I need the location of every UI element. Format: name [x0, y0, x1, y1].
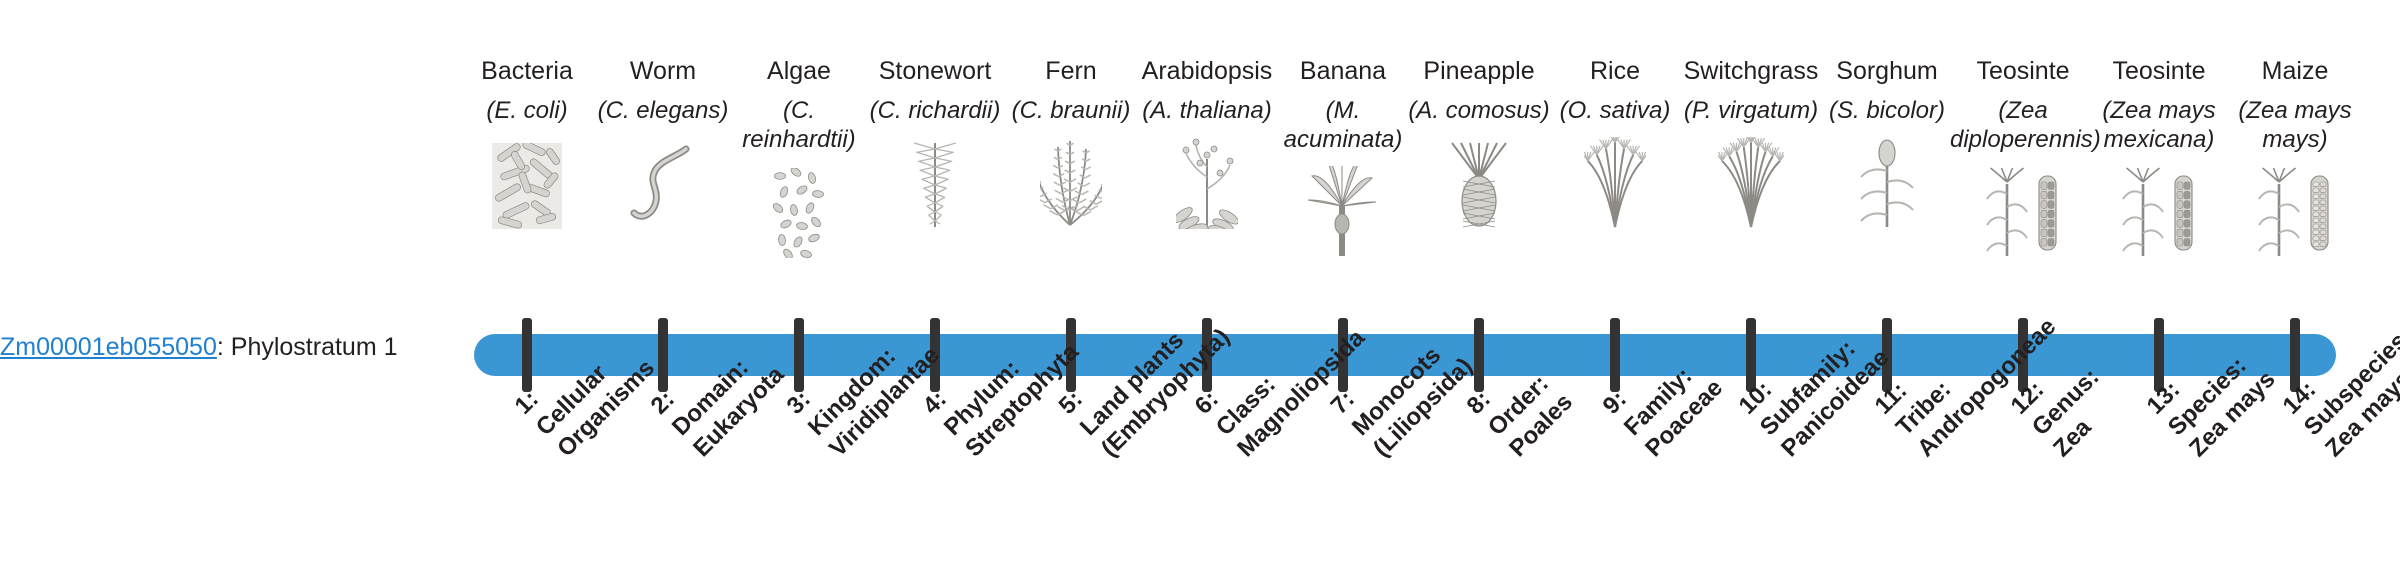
species-column: Maize(Zea mays mays) — [2222, 56, 2368, 258]
species-common-name: Bacteria — [454, 56, 600, 86]
teosinte-diploperennis-icon — [1950, 162, 2096, 258]
species-column: Worm(C. elegans) — [590, 56, 736, 229]
species-common-name: Arabidopsis — [1134, 56, 1280, 86]
species-scientific-name: (E. coli) — [454, 96, 600, 125]
species-column: Algae(C. reinhardtii) — [726, 56, 872, 258]
species-common-name: Stonewort — [862, 56, 1008, 86]
species-scientific-name: (M. acuminata) — [1270, 96, 1416, 154]
rice-icon — [1542, 133, 1688, 229]
species-scientific-name: (Zea diploperennis) — [1950, 96, 2096, 154]
species-column: Fern(C. braunii) — [998, 56, 1144, 229]
stonewort-icon — [862, 133, 1008, 229]
species-scientific-name: (Zea mays mexicana) — [2086, 96, 2232, 154]
species-common-name: Worm — [590, 56, 736, 86]
species-common-name: Rice — [1542, 56, 1688, 86]
fern-icon — [998, 133, 1144, 229]
species-common-name: Algae — [726, 56, 872, 86]
species-column: Teosinte(Zea mays mexicana) — [2086, 56, 2232, 258]
gene-phylostratum-label: Zm00001eb055050: Phylostratum 1 — [0, 332, 300, 362]
arabidopsis-icon — [1134, 133, 1280, 229]
species-column: Bacteria(E. coli) — [454, 56, 600, 229]
species-column: Switchgrass(P. virgatum) — [1678, 56, 1824, 229]
species-scientific-name: (P. virgatum) — [1678, 96, 1824, 125]
species-column: Sorghum(S. bicolor) — [1814, 56, 1960, 229]
species-common-name: Teosinte — [1950, 56, 2096, 86]
species-column: Banana(M. acuminata) — [1270, 56, 1416, 258]
species-common-name: Fern — [998, 56, 1144, 86]
species-common-name: Maize — [2222, 56, 2368, 86]
bacteria-icon — [454, 133, 600, 229]
species-scientific-name: (S. bicolor) — [1814, 96, 1960, 125]
worm-icon — [590, 133, 736, 229]
species-scientific-name: (C. richardii) — [862, 96, 1008, 125]
species-column: Rice(O. sativa) — [1542, 56, 1688, 229]
pineapple-icon — [1406, 133, 1552, 229]
species-column: Teosinte(Zea diploperennis) — [1950, 56, 2096, 258]
phylostratum-diagram: Zm00001eb055050: Phylostratum 1 Bacteria… — [0, 0, 2400, 580]
species-scientific-name: (Zea mays mays) — [2222, 96, 2368, 154]
gene-label-separator: : — [217, 333, 231, 361]
species-scientific-name: (A. thaliana) — [1134, 96, 1280, 125]
teosinte-mexicana-icon — [2086, 162, 2232, 258]
maize-icon — [2222, 162, 2368, 258]
species-common-name: Pineapple — [1406, 56, 1552, 86]
switchgrass-icon — [1678, 133, 1824, 229]
species-column: Stonewort(C. richardii) — [862, 56, 1008, 229]
species-scientific-name: (C. braunii) — [998, 96, 1144, 125]
sorghum-icon — [1814, 133, 1960, 229]
species-common-name: Banana — [1270, 56, 1416, 86]
species-common-name: Sorghum — [1814, 56, 1960, 86]
species-scientific-name: (C. elegans) — [590, 96, 736, 125]
species-common-name: Switchgrass — [1678, 56, 1824, 86]
species-column: Pineapple(A. comosus) — [1406, 56, 1552, 229]
algae-icon — [726, 162, 872, 258]
species-scientific-name: (A. comosus) — [1406, 96, 1552, 125]
phylostratum-value: Phylostratum 1 — [231, 333, 398, 361]
species-common-name: Teosinte — [2086, 56, 2232, 86]
gene-id-link[interactable]: Zm00001eb055050 — [0, 333, 217, 361]
species-scientific-name: (C. reinhardtii) — [726, 96, 872, 154]
banana-icon — [1270, 162, 1416, 258]
species-column: Arabidopsis(A. thaliana) — [1134, 56, 1280, 229]
species-scientific-name: (O. sativa) — [1542, 96, 1688, 125]
